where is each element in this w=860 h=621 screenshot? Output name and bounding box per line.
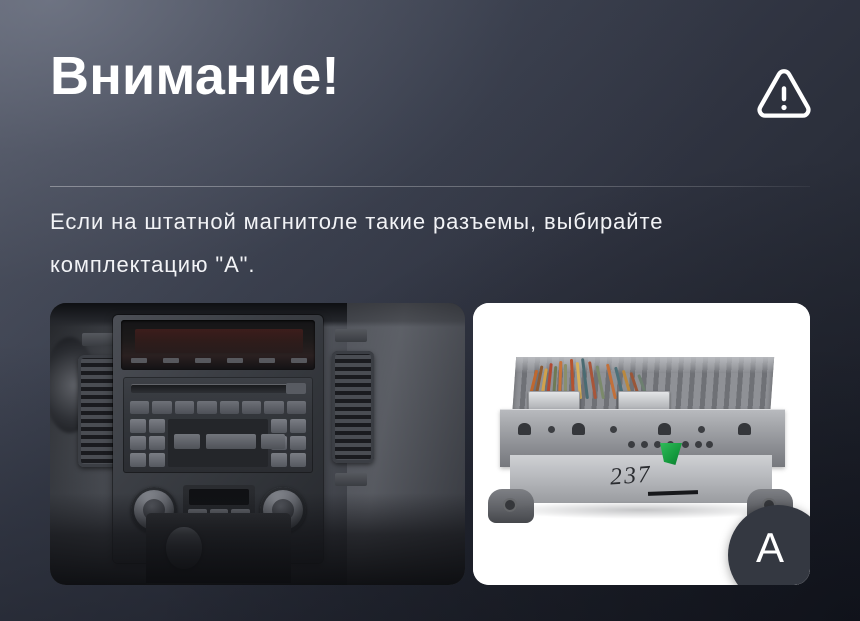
display-glow <box>135 329 303 353</box>
unit-drop-shadow <box>497 501 785 519</box>
control-center-panel <box>168 419 268 467</box>
mounting-hole-row <box>512 423 772 437</box>
dashboard-lower-shade <box>50 493 465 585</box>
photo-row: 237 A <box>50 303 810 585</box>
slide-content: Внимание! Если на штатной магнитоле таки… <box>0 0 860 621</box>
preset-button-row <box>130 401 306 414</box>
air-vent-right <box>332 351 374 463</box>
car-center-console-photo <box>50 303 465 585</box>
eject-button <box>286 383 306 394</box>
warning-message: Если на штатной магнитоле такие разъемы,… <box>50 200 818 286</box>
display-button-row <box>131 358 307 366</box>
header-divider <box>50 186 810 187</box>
variant-badge-label: A <box>756 527 800 583</box>
head-unit-body: 237 <box>500 357 785 507</box>
side-button-right-bottom <box>335 473 367 486</box>
factory-head-unit <box>123 377 313 473</box>
cd-slot <box>131 384 289 393</box>
side-button-right-top <box>335 329 367 342</box>
page-title: Внимание! <box>50 48 340 105</box>
head-unit-rear-connectors-photo: 237 A <box>473 303 810 585</box>
warning-slide: Внимание! Если на штатной магнитоле таки… <box>0 0 860 621</box>
display-bay <box>121 320 315 370</box>
warning-triangle-icon <box>753 62 815 124</box>
side-button-left <box>82 333 114 346</box>
handwritten-mark: 237 <box>609 462 653 492</box>
control-button-grid <box>130 419 306 467</box>
